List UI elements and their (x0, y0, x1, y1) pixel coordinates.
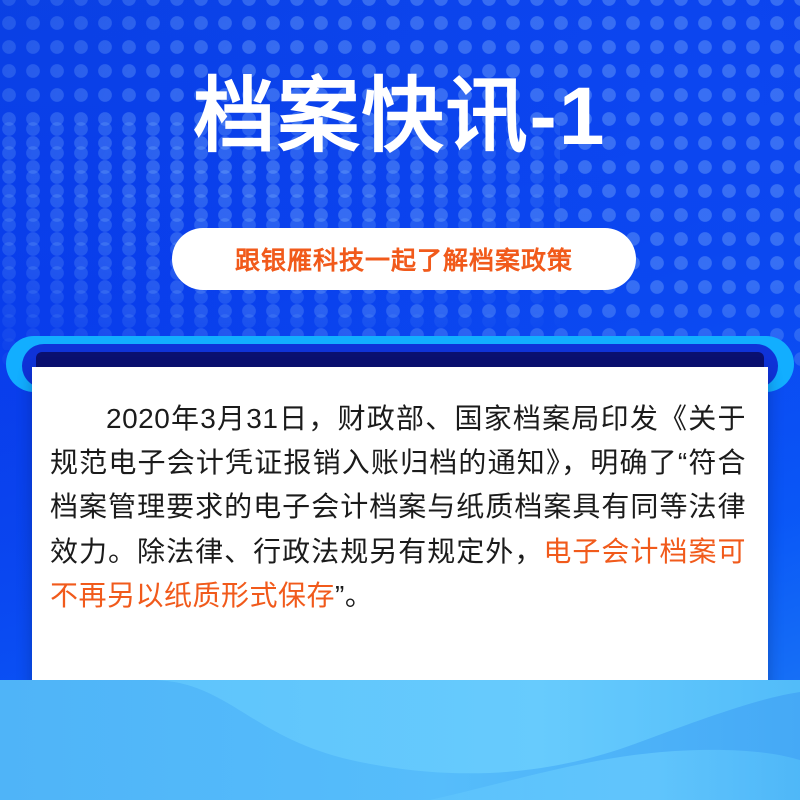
page-title: 档案快讯-1 (0, 74, 800, 160)
bottom-wave-decoration (0, 680, 800, 800)
wave-svg (0, 680, 800, 800)
subtitle-pill: 跟银雁科技一起了解档案政策 (172, 228, 636, 290)
body-text-tail: ”。 (335, 580, 373, 611)
content-card-inner: 2020年3月31日，财政部、国家档案局印发《关于规范电子会计凭证报销入账归档的… (32, 367, 768, 618)
poster-canvas: 档案快讯-1 跟银雁科技一起了解档案政策 2020年3月31日，财政部、国家档案… (0, 0, 800, 800)
subtitle-text: 跟银雁科技一起了解档案政策 (235, 241, 573, 277)
body-paragraph: 2020年3月31日，财政部、国家档案局印发《关于规范电子会计凭证报销入账归档的… (50, 397, 746, 618)
